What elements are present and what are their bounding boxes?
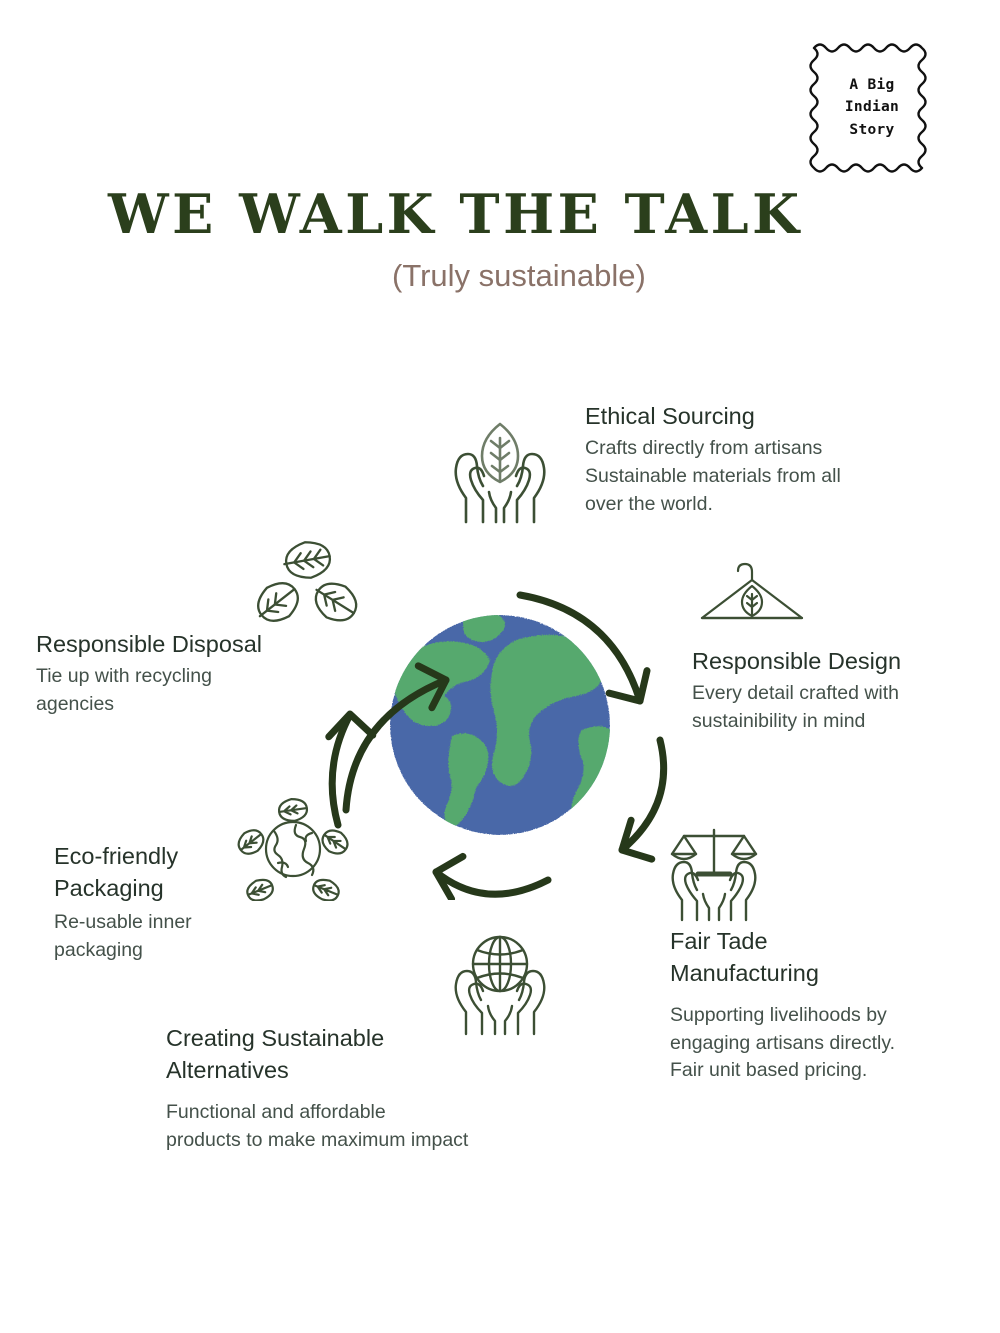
hands-holding-leaf-icon [440, 410, 560, 530]
cycle-arrow-3 [612, 740, 664, 869]
earth-and-arrows-svg [320, 540, 680, 900]
pillar-body: Crafts directly from artisans Sustainabl… [585, 435, 925, 518]
leaf-lower-right [307, 575, 363, 629]
hands-holding-leaf-svg [440, 410, 560, 530]
pillar-eco-friendly-packaging: Eco-friendly Packaging Re-usable inner p… [54, 840, 294, 964]
pillar-responsible-disposal: Responsible Disposal Tie up with recycli… [36, 628, 326, 719]
leaf-upper [281, 538, 333, 581]
pillar-heading: Responsible Disposal [36, 628, 326, 660]
hands-holding-scales-icon [658, 824, 770, 924]
pillar-fair-trade-manufacturing: Fair Tade Manufacturing Supporting livel… [670, 925, 970, 1085]
pillar-heading: Fair Tade Manufacturing [670, 925, 970, 990]
pillar-creating-sustainable-alternatives: Creating Sustainable Alternatives Functi… [166, 1022, 566, 1154]
brand-stamp-logo: A Big Indian Story [806, 38, 938, 178]
pillar-ethical-sourcing: Ethical Sourcing Crafts directly from ar… [585, 400, 925, 518]
leaf-right [318, 826, 352, 859]
scales-svg [658, 824, 770, 924]
leaf-lower-left [249, 575, 306, 630]
pillar-body: Re-usable inner packaging [54, 909, 294, 964]
pillar-body: Supporting livelihoods by engaging artis… [670, 1002, 970, 1085]
pillar-body: Functional and affordable products to ma… [166, 1099, 566, 1154]
page-title: WE WALK THE TALK [108, 182, 803, 246]
three-leaves-icon [246, 536, 366, 640]
cycle-arrow-4 [430, 851, 548, 899]
clothes-hanger-leaf-icon [692, 552, 812, 630]
stamp-line-2: Indian [845, 97, 899, 118]
pillar-heading: Eco-friendly Packaging [54, 840, 294, 905]
hanger-svg [692, 552, 812, 630]
pillar-body: Tie up with recycling agencies [36, 663, 326, 718]
leaf-bottom-right [310, 876, 342, 901]
infographic-page: A Big Indian Story WE WALK THE TALK (Tru… [0, 0, 1000, 1333]
pillar-heading: Ethical Sourcing [585, 400, 925, 432]
stamp-line-1: A Big [849, 75, 894, 96]
stamp-line-3: Story [849, 120, 894, 141]
three-leaves-svg [246, 536, 366, 640]
page-subtitle: (Truly sustainable) [392, 258, 646, 294]
leaf-top [278, 797, 309, 823]
stamp-text-group: A Big Indian Story [806, 38, 938, 178]
pillar-responsible-design: Responsible Design Every detail crafted … [692, 645, 982, 736]
pillar-body: Every detail crafted with sustainibility… [692, 680, 982, 735]
pillar-heading: Creating Sustainable Alternatives [166, 1022, 566, 1087]
pillar-heading: Responsible Design [692, 645, 982, 677]
earth-globe [390, 609, 619, 836]
sustainability-cycle-diagram [320, 540, 680, 900]
